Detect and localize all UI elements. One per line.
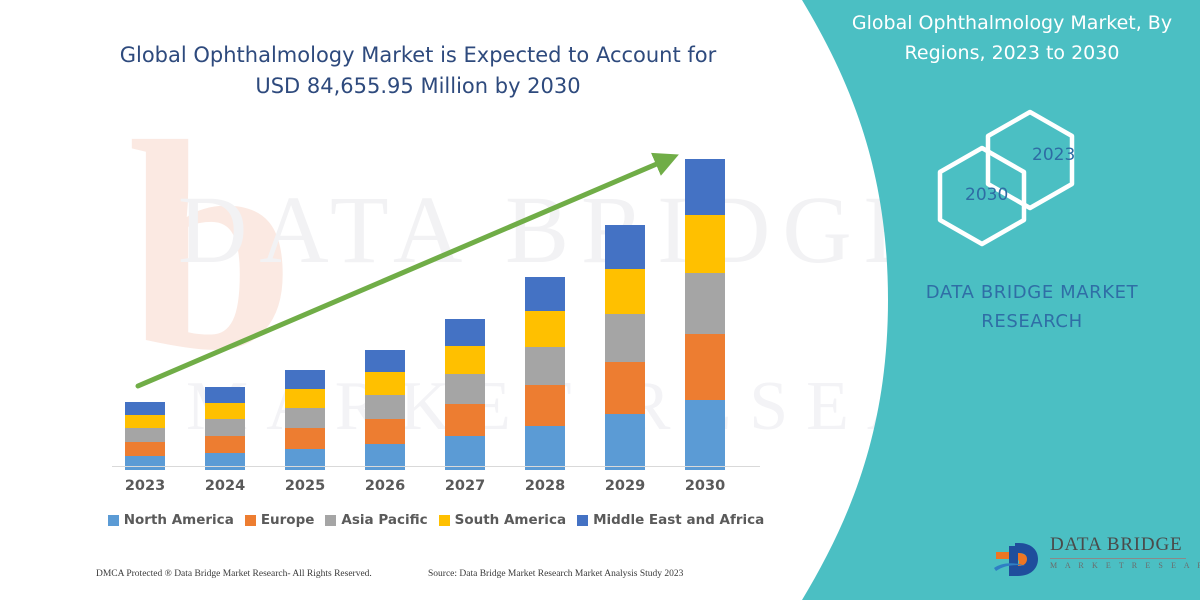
x-tick-2029: 2029	[585, 478, 665, 494]
legend-item-middle-east-and-africa[interactable]: Middle East and Africa	[577, 512, 764, 528]
legend-item-asia-pacific[interactable]: Asia Pacific	[325, 512, 427, 528]
chart-legend: North AmericaEuropeAsia PacificSouth Ame…	[112, 512, 760, 528]
bar-segment-2023-middle-east-and-africa	[125, 402, 165, 415]
chart-title: Global Ophthalmology Market is Expected …	[106, 40, 730, 102]
logo-monogram-icon	[992, 532, 1044, 582]
bar-segment-2028-south-america	[525, 311, 565, 347]
bar-2026	[365, 350, 405, 470]
legend-swatch-icon	[577, 515, 588, 526]
logo-tagline: M A R K E T R E S E A R C H	[1050, 561, 1188, 570]
bar-segment-2029-asia-pacific	[605, 314, 645, 362]
bar-segment-2029-europe	[605, 362, 645, 414]
bar-segment-2023-europe	[125, 442, 165, 456]
bar-segment-2026-south-america	[365, 372, 405, 395]
bar-2029	[605, 225, 645, 470]
bar-2028	[525, 277, 565, 470]
bar-segment-2023-south-america	[125, 415, 165, 428]
bar-segment-2028-middle-east-and-africa	[525, 277, 565, 311]
bar-segment-2023-asia-pacific	[125, 428, 165, 442]
bar-segment-2026-middle-east-and-africa	[365, 350, 405, 372]
legend-swatch-icon	[245, 515, 256, 526]
legend-item-europe[interactable]: Europe	[245, 512, 315, 528]
bar-segment-2029-south-america	[605, 269, 645, 314]
bar-segment-2025-middle-east-and-africa	[285, 370, 325, 389]
bar-segment-2027-north-america	[445, 436, 485, 470]
bar-segment-2030-europe	[685, 334, 725, 400]
bar-segment-2027-middle-east-and-africa	[445, 319, 485, 346]
bar-segment-2024-south-america	[205, 403, 245, 419]
bar-segment-2024-asia-pacific	[205, 419, 245, 436]
bar-segment-2024-north-america	[205, 453, 245, 470]
bar-segment-2027-europe	[445, 404, 485, 436]
bar-2025	[285, 370, 325, 470]
bar-segment-2029-north-america	[605, 414, 645, 470]
bar-segment-2030-middle-east-and-africa	[685, 159, 725, 215]
bar-segment-2027-south-america	[445, 346, 485, 374]
x-tick-2030: 2030	[665, 478, 745, 494]
stacked-bar-plot	[112, 140, 752, 470]
side-panel-brand-line-1: DATA BRIDGE MARKET	[900, 278, 1164, 307]
bar-segment-2026-europe	[365, 419, 405, 444]
bar-segment-2028-north-america	[525, 426, 565, 470]
bar-segment-2025-south-america	[285, 389, 325, 408]
bar-2024	[205, 387, 245, 470]
legend-swatch-icon	[325, 515, 336, 526]
logo-divider	[1050, 558, 1186, 559]
side-panel-brand: DATA BRIDGE MARKET RESEARCH	[900, 278, 1164, 336]
bar-segment-2030-asia-pacific	[685, 273, 725, 334]
bar-segment-2025-asia-pacific	[285, 408, 325, 428]
side-panel-brand-line-2: RESEARCH	[900, 307, 1164, 336]
company-logo: DATA BRIDGE M A R K E T R E S E A R C H	[992, 530, 1188, 586]
bar-2030	[685, 159, 725, 470]
bar-segment-2028-asia-pacific	[525, 347, 565, 385]
bar-2023	[125, 402, 165, 470]
x-tick-2026: 2026	[345, 478, 425, 494]
bar-segment-2029-middle-east-and-africa	[605, 225, 645, 269]
x-tick-2025: 2025	[265, 478, 345, 494]
x-tick-2024: 2024	[185, 478, 265, 494]
bar-segment-2030-south-america	[685, 215, 725, 273]
legend-label: South America	[455, 512, 566, 528]
bar-segment-2030-north-america	[685, 400, 725, 470]
bar-segment-2024-europe	[205, 436, 245, 453]
hexagon-label-2030: 2030	[965, 185, 1008, 205]
footer-copyright: DMCA Protected ® Data Bridge Market Rese…	[96, 569, 372, 579]
legend-swatch-icon	[439, 515, 450, 526]
x-tick-2023: 2023	[105, 478, 185, 494]
x-tick-2027: 2027	[425, 478, 505, 494]
legend-swatch-icon	[108, 515, 119, 526]
logo-name: DATA BRIDGE	[1050, 534, 1188, 556]
bar-segment-2028-europe	[525, 385, 565, 426]
bar-segment-2023-north-america	[125, 456, 165, 470]
legend-label: Asia Pacific	[341, 512, 427, 528]
legend-label: North America	[124, 512, 234, 528]
bar-segment-2026-asia-pacific	[365, 395, 405, 419]
legend-item-north-america[interactable]: North America	[108, 512, 234, 528]
bar-2027	[445, 319, 485, 470]
hexagon-label-2023: 2023	[1032, 145, 1075, 165]
side-panel-title: Global Ophthalmology Market, By Regions,…	[838, 8, 1186, 68]
legend-label: Europe	[261, 512, 315, 528]
legend-label: Middle East and Africa	[593, 512, 764, 528]
bar-segment-2027-asia-pacific	[445, 374, 485, 404]
bar-segment-2025-europe	[285, 428, 325, 449]
x-tick-2028: 2028	[505, 478, 585, 494]
legend-item-south-america[interactable]: South America	[439, 512, 566, 528]
footer-source: Source: Data Bridge Market Research Mark…	[428, 569, 683, 579]
hexagon-pair-graphic	[920, 108, 1120, 248]
x-axis-line	[112, 466, 760, 467]
infographic-root: b DATA BRIDGE MARKET RESEARCH Global Oph…	[0, 0, 1200, 600]
logo-wordmark: DATA BRIDGE M A R K E T R E S E A R C H	[1050, 534, 1188, 570]
bar-segment-2024-middle-east-and-africa	[205, 387, 245, 403]
